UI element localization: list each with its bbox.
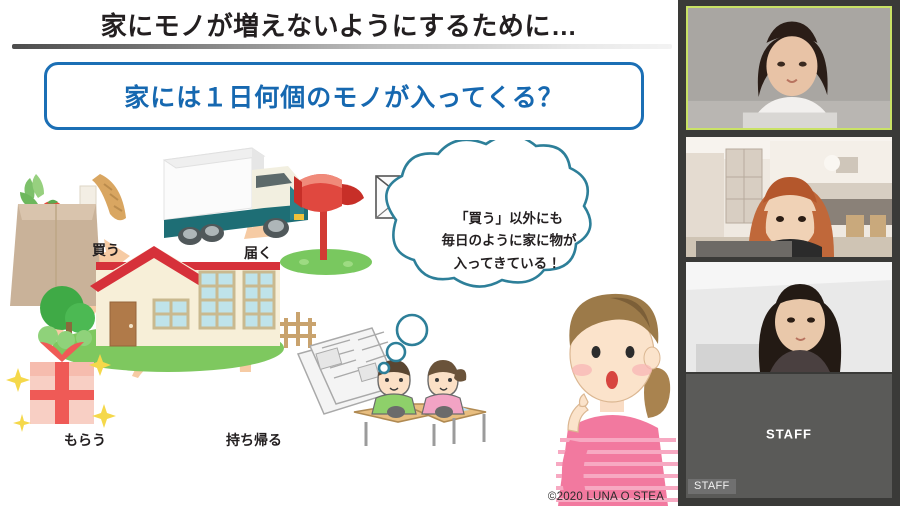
page-title: 家にモノが増えないようにするために… [4, 6, 674, 43]
copyright-notice: ©2020 LUNA O STEA [548, 491, 664, 503]
label-buy: 買う [92, 240, 120, 260]
participant-name-badge-staff: STAFF [688, 479, 736, 494]
tile-center-label-staff: STAFF [686, 426, 892, 441]
thinking-woman-illustration [556, 294, 678, 506]
label-deliver: 届く [244, 243, 272, 263]
speech-bubble-text: 「買う」以外にも 毎日のように家に物が 入ってきている ！ [394, 208, 624, 275]
video-feed-participant-2 [686, 137, 892, 257]
label-receive: もらう [64, 430, 106, 450]
video-tile-participant-3[interactable] [686, 262, 892, 372]
speech-bubble-line-3: 入ってきている ！ [394, 253, 624, 275]
slide-illustration [4, 140, 678, 506]
gift-box-illustration [6, 342, 116, 432]
label-bring-home: 持ち帰る [226, 430, 282, 450]
video-feed-participant-1 [688, 8, 890, 128]
question-box-text: 家には１日何個のモノが入ってくる？ [47, 65, 641, 127]
title-divider [12, 44, 672, 49]
speech-bubble-line-2: 毎日のように家に物が [394, 230, 624, 252]
speech-bubble-line-1: 「買う」以外にも [394, 208, 624, 230]
question-box: 家には１日何個のモノが入ってくる？ [44, 62, 644, 130]
screenshot-root: 家にモノが増えないようにするために… 家には１日何個のモノが入ってくる？ [0, 0, 900, 506]
video-tile-staff[interactable]: STAFF STAFF [686, 374, 892, 498]
video-panel: STAFF STAFF [678, 0, 900, 506]
shared-slide: 家にモノが増えないようにするために… 家には１日何個のモノが入ってくる？ [0, 0, 678, 506]
video-tile-participant-2[interactable] [686, 137, 892, 257]
video-feed-participant-3 [686, 262, 892, 372]
video-tile-participant-1[interactable] [686, 6, 892, 130]
